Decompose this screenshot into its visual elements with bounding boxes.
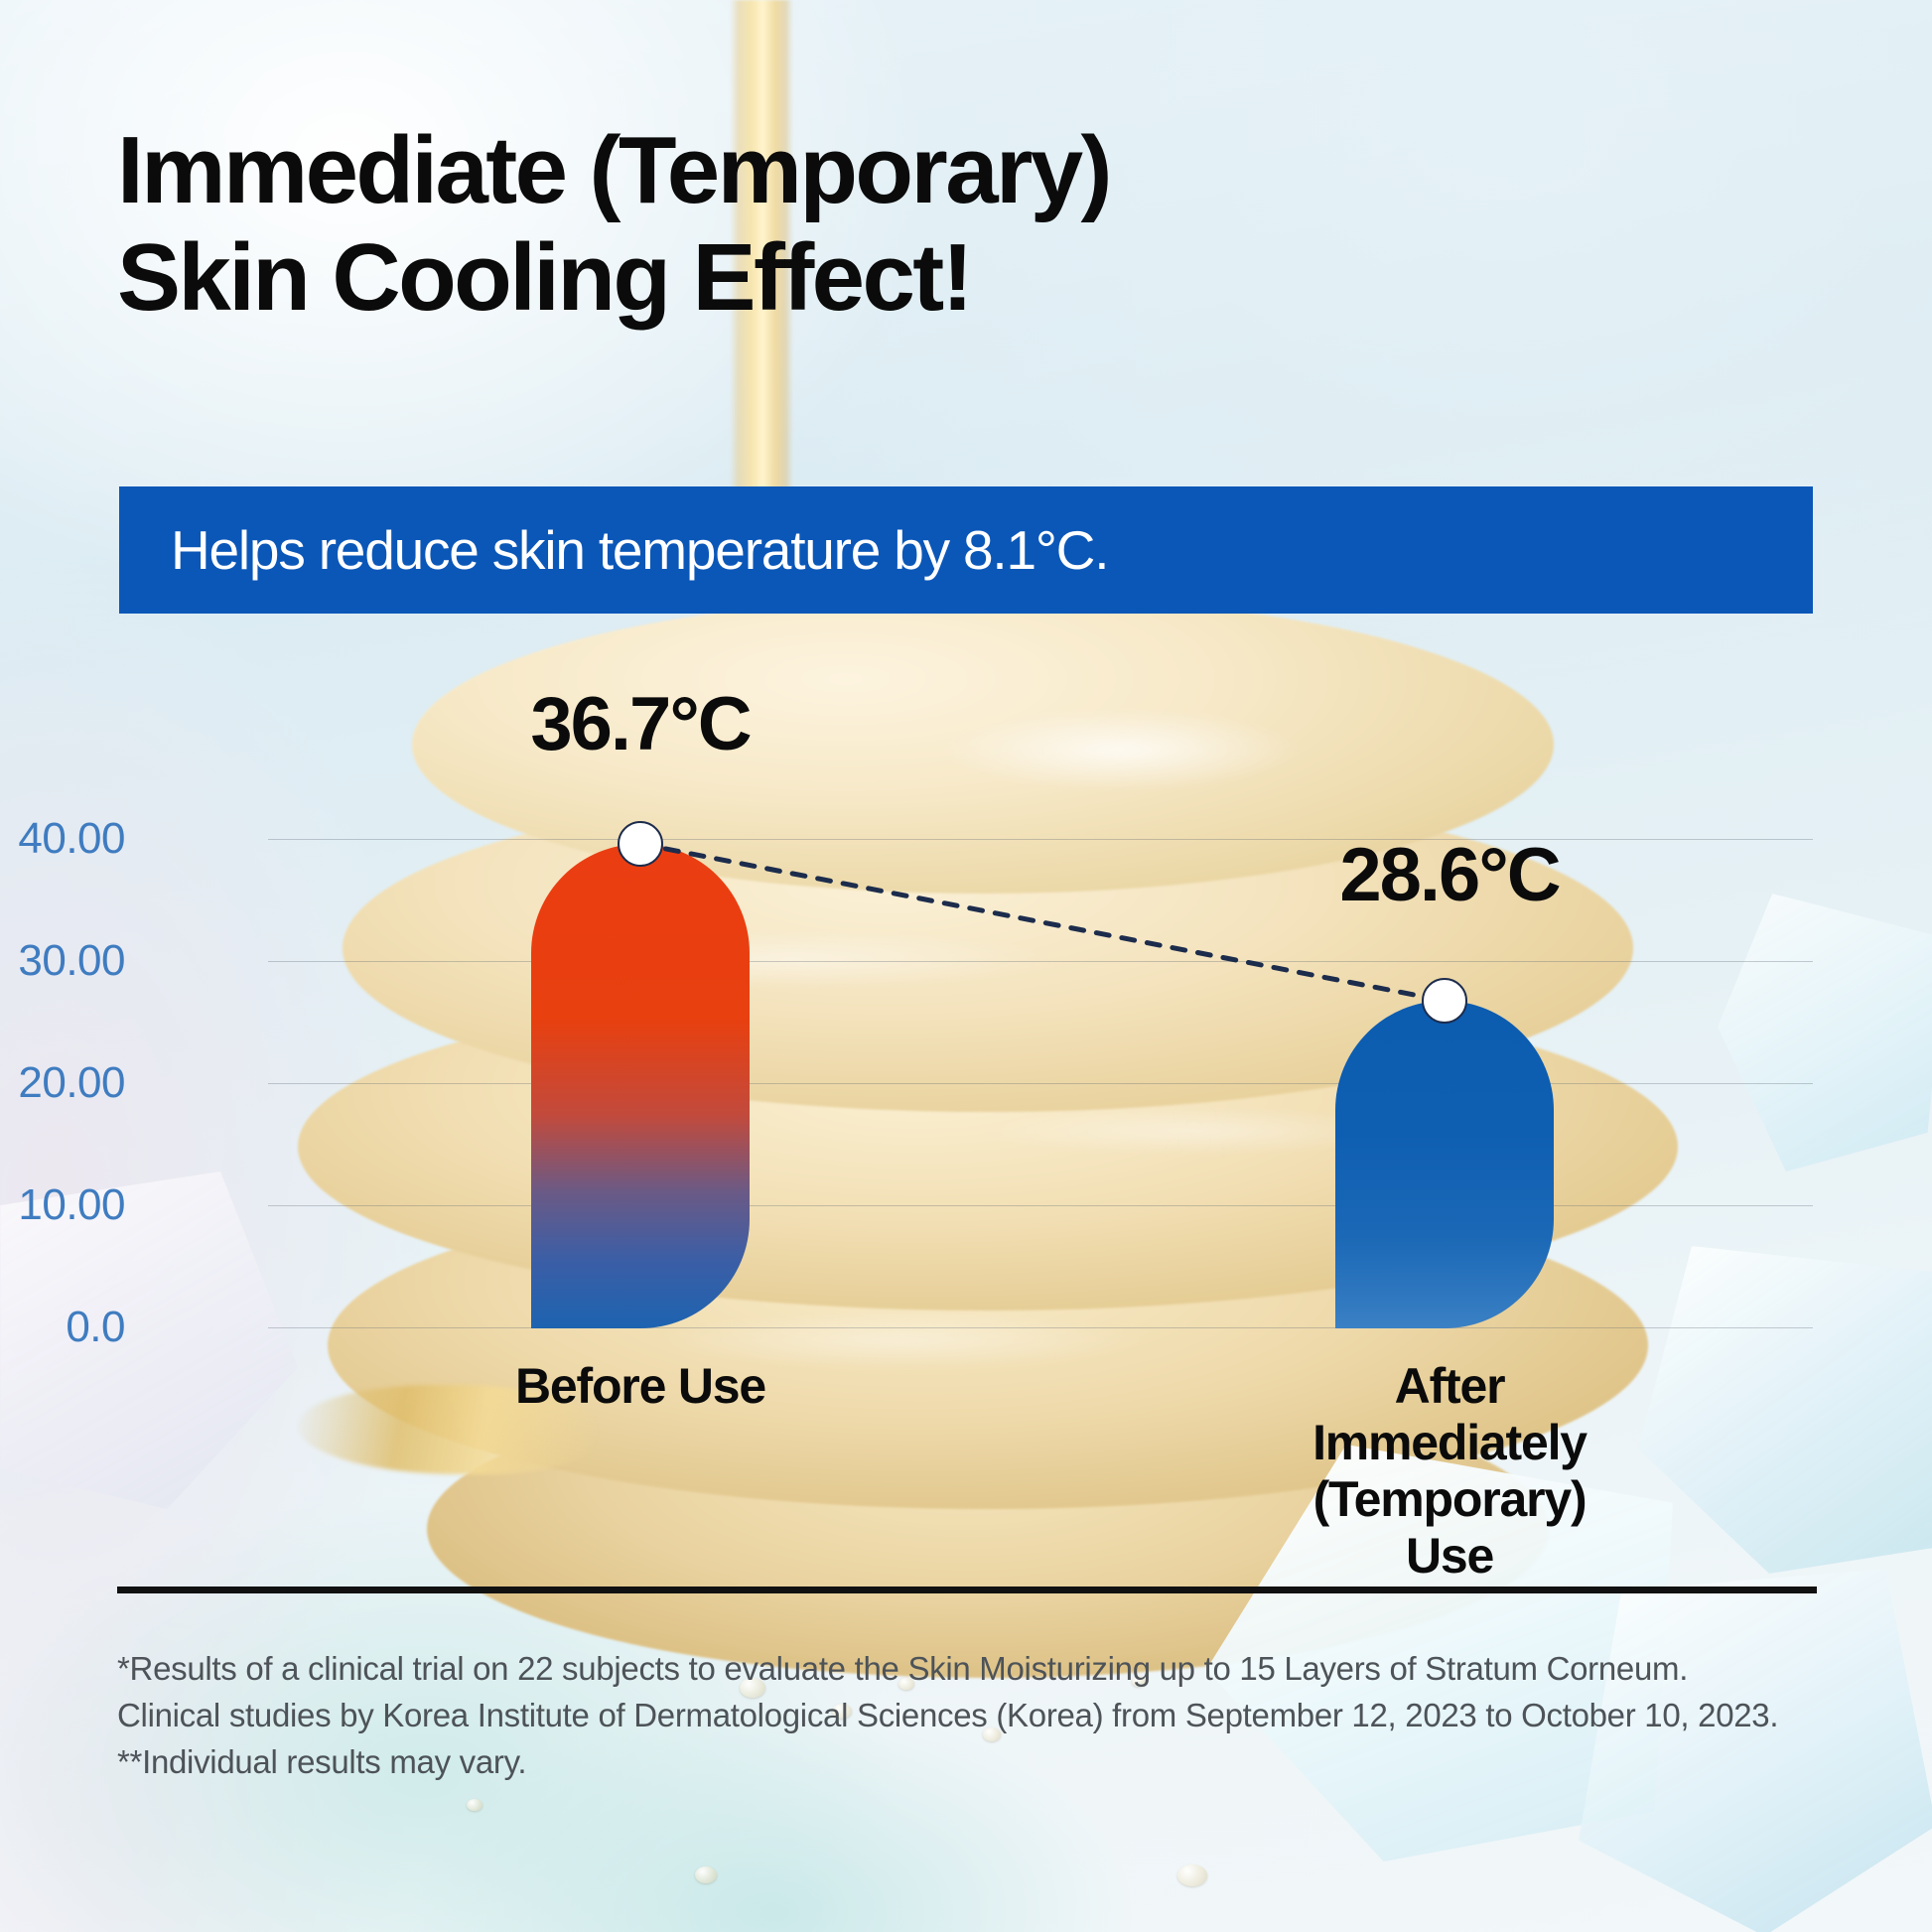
page-title: Immediate (Temporary) Skin Cooling Effec… [117, 117, 1606, 333]
footnote-line-3: **Individual results may vary. [117, 1739, 1835, 1786]
footnote-block: *Results of a clinical trial on 22 subje… [117, 1646, 1835, 1786]
cooling-effect-bar-chart: 40.00 30.00 20.00 10.00 0.0 [0, 614, 1932, 1398]
ytick-label-0: 0.0 [0, 1303, 125, 1352]
footnote-line-1: *Results of a clinical trial on 22 subje… [117, 1646, 1835, 1693]
footnote-line-2: Clinical studies by Korea Institute of D… [117, 1693, 1835, 1739]
category-label-before-use: Before Use [515, 1358, 765, 1415]
ytick-label-30: 30.00 [0, 936, 125, 986]
data-marker-before-use[interactable] [618, 821, 663, 867]
ytick-label-20: 20.00 [0, 1058, 125, 1108]
value-label-after-use: 28.6°C [1339, 832, 1559, 918]
category-label-after-use: After Immediately (Temporary) Use [1268, 1358, 1631, 1585]
divider-rule [117, 1587, 1817, 1593]
poster-canvas: Immediate (Temporary) Skin Cooling Effec… [0, 0, 1932, 1932]
chart-plot-area: 40.00 30.00 20.00 10.00 0.0 [268, 802, 1813, 1328]
highlight-banner: Helps reduce skin temperature by 8.1°C. [119, 486, 1813, 614]
value-label-before-use: 36.7°C [530, 681, 750, 767]
poster-content: Immediate (Temporary) Skin Cooling Effec… [0, 0, 1932, 1932]
banner-text: Helps reduce skin temperature by 8.1°C. [119, 518, 1108, 582]
data-marker-after-use[interactable] [1422, 978, 1467, 1024]
connector-line [268, 802, 1813, 1328]
ytick-label-10: 10.00 [0, 1180, 125, 1230]
ytick-label-40: 40.00 [0, 814, 125, 864]
